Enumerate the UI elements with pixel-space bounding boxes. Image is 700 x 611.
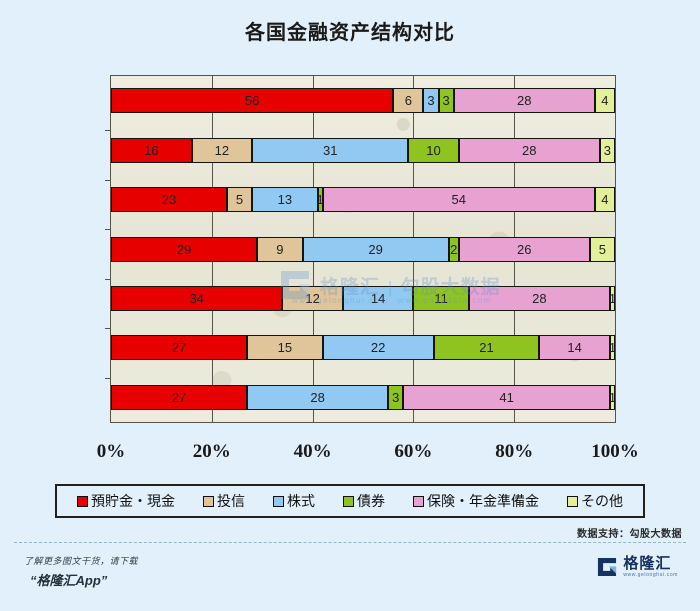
- bar-segment: 34: [111, 286, 282, 311]
- legend-swatch-icon: [273, 496, 284, 507]
- bar-segment: 23: [111, 187, 227, 212]
- x-axis: 0%20%40%60%80%100%: [110, 441, 616, 473]
- bar-segment-value: 54: [451, 192, 465, 207]
- legend-label: 株式: [287, 491, 315, 511]
- bar-segment-value: 12: [305, 291, 319, 306]
- bar-segment-value: 28: [532, 291, 546, 306]
- bar-segment: 27: [111, 335, 247, 360]
- legend-swatch-icon: [343, 496, 354, 507]
- legend-swatch-icon: [77, 496, 88, 507]
- x-axis-tick-label: 100%: [591, 441, 639, 463]
- bar-segment-value: 5: [599, 242, 606, 257]
- bar-segment: 29: [111, 237, 257, 262]
- bar-segment: 4: [595, 187, 615, 212]
- bar-segment-value: 28: [517, 93, 531, 108]
- legend-label: 投信: [217, 491, 245, 511]
- stacked-bar: 27152221141: [111, 335, 615, 360]
- brand-url: www.gelonghui.com: [623, 573, 678, 578]
- bar-segment-value: 1: [610, 340, 615, 355]
- bar-segment: 6: [393, 88, 423, 113]
- bar-row: 27152221141: [111, 335, 615, 360]
- bar-segment-value: 1: [610, 390, 615, 405]
- stacked-bar: 270283411: [111, 385, 615, 410]
- brand-text: 格隆汇 www.gelonghui.com: [623, 556, 678, 578]
- bar-segment: 54: [323, 187, 595, 212]
- bar-segment: 10: [408, 138, 458, 163]
- legend-item[interactable]: 債券: [343, 491, 385, 511]
- bar-segment-value: 10: [426, 143, 440, 158]
- y-axis-tick: [105, 130, 110, 131]
- bar-segment-value: 15: [278, 340, 292, 355]
- legend-item[interactable]: 投信: [203, 491, 245, 511]
- bar-segment: 1: [610, 385, 615, 410]
- bar-segment: 2: [449, 237, 459, 262]
- bar-segment-value: 3: [443, 93, 450, 108]
- bar-segment-value: 27: [172, 390, 186, 405]
- x-axis-tick-label: 60%: [394, 441, 432, 463]
- brand-logo: 格隆汇 www.gelonghui.com: [596, 556, 678, 578]
- page-title: 各国金融资产结构对比: [0, 16, 700, 45]
- x-axis-tick-label: 0%: [97, 441, 126, 463]
- bar-segment: 28: [454, 88, 595, 113]
- bar-segment: 3: [439, 88, 454, 113]
- bar-segment: 12: [192, 138, 252, 163]
- legend-label: 保険・年金準備金: [427, 491, 539, 511]
- footer-promo-line: 了解更多图文干货，请下载: [24, 554, 138, 567]
- bar-segment-value: 12: [215, 143, 229, 158]
- bar-segment-value: 27: [172, 340, 186, 355]
- bar-segment: 27: [111, 385, 247, 410]
- bar-segment: 28: [459, 138, 600, 163]
- legend-item[interactable]: その他: [567, 491, 623, 511]
- legend-item[interactable]: 保険・年金準備金: [413, 491, 539, 511]
- bar-segment: 14: [539, 335, 610, 360]
- bar-row: 34121411281: [111, 286, 615, 311]
- bar-row: 270283411: [111, 385, 615, 410]
- bar-segment: 5: [227, 187, 252, 212]
- bar-segment: 26: [459, 237, 590, 262]
- bar-segment: 15: [247, 335, 323, 360]
- bar-segment: 14: [343, 286, 414, 311]
- bar-segment: 1: [610, 286, 615, 311]
- bar-segment: 3: [600, 138, 615, 163]
- legend-swatch-icon: [203, 496, 214, 507]
- bar-segment: 3: [423, 88, 438, 113]
- chart-legend: 預貯金・現金投信株式債券保険・年金準備金その他: [55, 484, 645, 518]
- x-axis-tick-label: 20%: [193, 441, 231, 463]
- bar-row: 235131544: [111, 187, 615, 212]
- bar-segment-value: 3: [392, 390, 399, 405]
- bar-segment: 29: [303, 237, 449, 262]
- bar-segment: 3: [388, 385, 403, 410]
- bar-segment-value: 14: [371, 291, 385, 306]
- bar-segment-value: 28: [522, 143, 536, 158]
- bar-segment-value: 21: [479, 340, 493, 355]
- y-axis-tick: [105, 229, 110, 230]
- bar-segment-value: 9: [276, 242, 283, 257]
- bar-segment: 11: [413, 286, 468, 311]
- bar-segment-value: 14: [567, 340, 581, 355]
- legend-item[interactable]: 株式: [273, 491, 315, 511]
- bar-segment-value: 5: [236, 192, 243, 207]
- bar-segment-value: 41: [499, 390, 513, 405]
- x-axis-tick-label: 80%: [495, 441, 533, 463]
- bar-segment-value: 28: [310, 390, 324, 405]
- bar-segment-value: 13: [278, 192, 292, 207]
- legend-label: 預貯金・現金: [91, 491, 175, 511]
- bar-segment: 28: [247, 385, 388, 410]
- bar-segment-value: 2: [450, 242, 457, 257]
- bar-segment-value: 1: [610, 291, 615, 306]
- bar-segment: 1: [610, 335, 615, 360]
- bar-segment-value: 31: [323, 143, 337, 158]
- bar-segment-value: 4: [601, 192, 608, 207]
- chart-plot-area: 5663328416123110283235131544299292265341…: [110, 75, 616, 423]
- bar-segment-value: 34: [189, 291, 203, 306]
- bar-segment: 22: [323, 335, 434, 360]
- bar-segment: 12: [282, 286, 342, 311]
- bar-segment: 5: [590, 237, 615, 262]
- bar-segment: 9: [257, 237, 302, 262]
- legend-swatch-icon: [413, 496, 424, 507]
- bar-segment-value: 3: [427, 93, 434, 108]
- bar-segment-value: 6: [405, 93, 412, 108]
- legend-label: 債券: [357, 491, 385, 511]
- bar-segment: 21: [434, 335, 540, 360]
- plot-background: 5663328416123110283235131544299292265341…: [110, 75, 616, 423]
- bar-segment: 13: [252, 187, 318, 212]
- brand-mark-icon: [596, 556, 618, 578]
- stacked-bar: 299292265: [111, 237, 615, 262]
- brand-name: 格隆汇: [623, 556, 678, 571]
- source-note: 数据支持：勾股大数据: [577, 525, 682, 540]
- bar-segment: 56: [111, 88, 393, 113]
- stacked-bar: 235131544: [111, 187, 615, 212]
- bar-segment-value: 26: [517, 242, 531, 257]
- y-axis-tick: [105, 328, 110, 329]
- y-axis-tick: [105, 180, 110, 181]
- bar-row: 299292265: [111, 237, 615, 262]
- footer-app-name: “格隆汇App”: [30, 570, 107, 589]
- bar-segment: 31: [252, 138, 408, 163]
- bar-segment-value: 23: [162, 192, 176, 207]
- bar-segment-value: 29: [368, 242, 382, 257]
- bar-segment-value: 22: [371, 340, 385, 355]
- legend-item[interactable]: 預貯金・現金: [77, 491, 175, 511]
- stacked-bar: 34121411281: [111, 286, 615, 311]
- bar-segment-value: 3: [604, 143, 611, 158]
- x-axis-tick-label: 40%: [294, 441, 332, 463]
- bar-segment-value: 11: [434, 291, 448, 306]
- bar-segment-value: 4: [601, 93, 608, 108]
- stacked-bar: 56633284: [111, 88, 615, 113]
- bar-segment: 16: [111, 138, 192, 163]
- bar-row: 56633284: [111, 88, 615, 113]
- bar-segment: 28: [469, 286, 610, 311]
- legend-swatch-icon: [567, 496, 578, 507]
- y-axis-tick: [105, 279, 110, 280]
- bar-segment-value: 29: [177, 242, 191, 257]
- bar-segment-value: 56: [245, 93, 259, 108]
- bar-row: 16123110283: [111, 138, 615, 163]
- stacked-bar: 16123110283: [111, 138, 615, 163]
- y-axis-tick: [105, 378, 110, 379]
- bar-segment: 4: [595, 88, 615, 113]
- footer-divider: [14, 542, 686, 543]
- legend-label: その他: [581, 491, 623, 511]
- bar-segment: 41: [403, 385, 610, 410]
- bar-segment-value: 16: [144, 143, 158, 158]
